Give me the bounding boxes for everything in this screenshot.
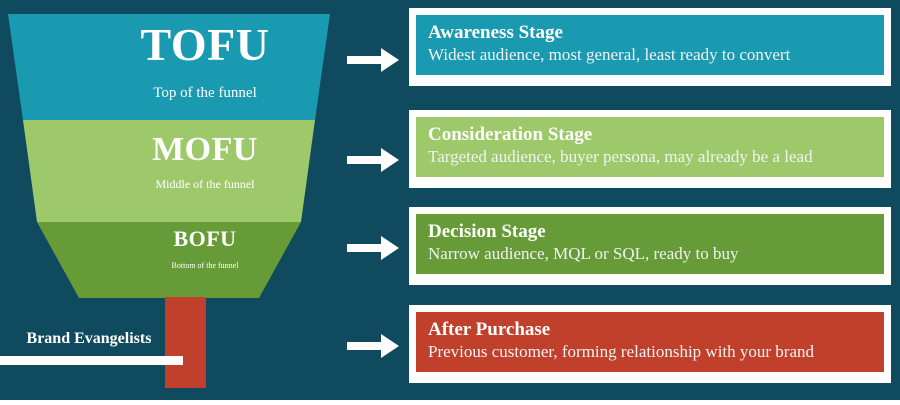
stage-title: After Purchase — [428, 319, 872, 341]
arrow-right-icon-after-purchase — [347, 333, 399, 359]
stage-card-fill: Awareness Stage Widest audience, most ge… — [416, 15, 884, 75]
arrow-right-icon — [347, 47, 399, 73]
marketing-funnel-infographic: TOFU Top of the funnel MOFU Middle of th… — [0, 0, 900, 400]
stage-description: Widest audience, most general, least rea… — [428, 45, 872, 65]
arrow-right-icon — [347, 333, 399, 359]
stage-title: Decision Stage — [428, 221, 872, 243]
stage-title: Consideration Stage — [428, 124, 872, 146]
brand-evangelists-leader-line — [0, 356, 183, 365]
stage-card-consideration: Consideration Stage Targeted audience, b… — [409, 110, 891, 188]
funnel-band-mofu — [23, 120, 315, 222]
stage-card-fill: Decision Stage Narrow audience, MQL or S… — [416, 214, 884, 274]
arrow-right-icon — [347, 235, 399, 261]
stage-card-awareness: Awareness Stage Widest audience, most ge… — [409, 8, 891, 86]
arrow-right-icon-consideration — [347, 147, 399, 173]
arrow-right-icon-awareness — [347, 47, 399, 73]
stage-description: Targeted audience, buyer persona, may al… — [428, 147, 872, 167]
stage-card-fill: After Purchase Previous customer, formin… — [416, 312, 884, 372]
stage-card-fill: Consideration Stage Targeted audience, b… — [416, 117, 884, 177]
brand-evangelists-label: Brand Evangelists — [0, 330, 178, 348]
brand-evangelists-callout: Brand Evangelists — [0, 330, 200, 390]
arrow-right-icon-decision — [347, 235, 399, 261]
arrow-right-icon — [347, 147, 399, 173]
stage-card-decision: Decision Stage Narrow audience, MQL or S… — [409, 207, 891, 285]
stage-card-after-purchase: After Purchase Previous customer, formin… — [409, 305, 891, 383]
funnel-band-tofu — [8, 14, 330, 120]
stage-description: Previous customer, forming relationship … — [428, 342, 872, 362]
funnel-band-bofu — [37, 222, 301, 298]
stage-title: Awareness Stage — [428, 22, 872, 44]
stage-description: Narrow audience, MQL or SQL, ready to bu… — [428, 244, 872, 264]
